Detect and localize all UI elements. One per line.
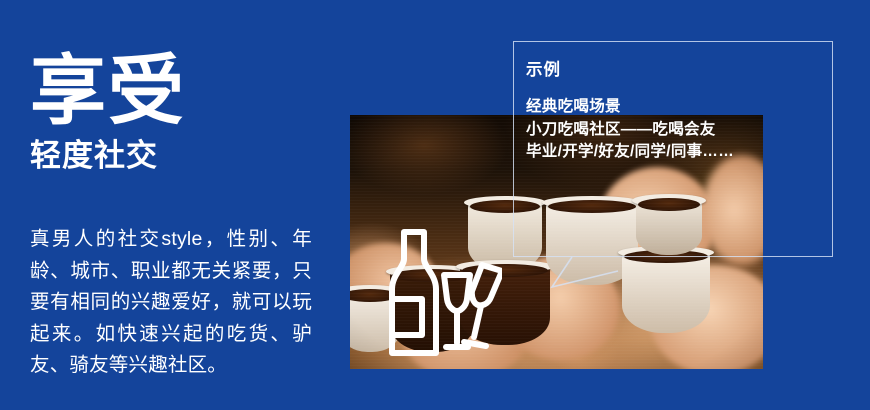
callout-line-3: 毕业/开学/好友/同学/同事……	[526, 141, 826, 164]
promo-banner: 示例 经典吃喝场景 小刀吃喝社区——吃喝会友 毕业/开学/好友/同学/同事…… …	[0, 0, 870, 410]
page-subtitle: 轻度社交	[30, 139, 330, 173]
callout-body: 经典吃喝场景 小刀吃喝社区——吃喝会友 毕业/开学/好友/同学/同事……	[526, 96, 826, 164]
body-paragraph: 真男人的社交style，性别、年龄、城市、职业都无关紧要，只要有相同的兴趣爱好，…	[30, 224, 312, 382]
callout-title: 示例	[526, 56, 561, 80]
callout-line-2: 小刀吃喝社区——吃喝会友	[526, 119, 826, 142]
left-text-column: 享受 轻度社交	[30, 55, 330, 174]
wine-bottle-and-glasses-icon	[382, 227, 502, 362]
callout-line-1: 经典吃喝场景	[526, 96, 826, 119]
callout-pointer-tail	[500, 245, 620, 305]
page-title: 享受	[30, 55, 330, 129]
